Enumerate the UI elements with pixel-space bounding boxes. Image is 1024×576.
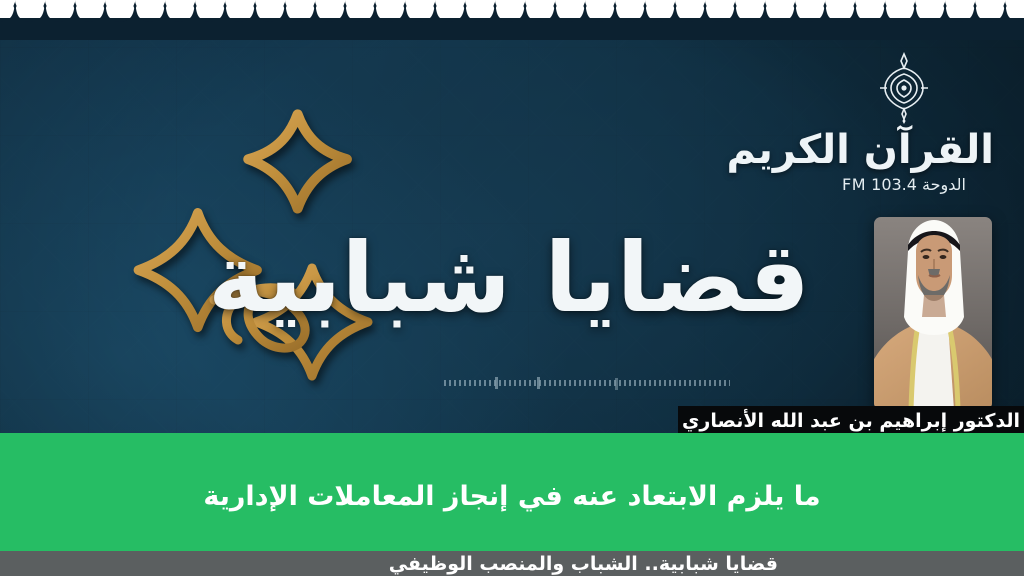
broadcast-frame: قضايا شبابية القرآن الكريم الدوحة 103.4 … <box>0 0 1024 576</box>
dotted-divider-ornament-icon <box>444 380 730 386</box>
islamic-finial-ornament-icon <box>874 52 934 124</box>
islamic-arch-crenellation-border-icon <box>0 0 1024 40</box>
topic-band: ما يلزم الابتعاد عنه في إنجاز المعاملات … <box>0 433 1024 551</box>
station-logo-word: القرآن الكريم <box>814 130 994 170</box>
program-title: قضايا شبابية <box>250 228 810 329</box>
guest-name-plate: الدكتور إبراهيم بن عبد الله الأنصاري <box>678 406 1024 435</box>
station-logo-frequency: الدوحة 103.4 FM <box>814 175 994 194</box>
program-title-text: قضايا شبابية <box>250 228 810 329</box>
station-logo: القرآن الكريم الدوحة 103.4 FM <box>814 52 994 194</box>
guest-portrait-photo-icon <box>874 217 992 410</box>
news-ticker-bar: قضايا شبابية.. الشباب والمنصب الوظيفي <box>0 551 1024 576</box>
topic-headline: ما يلزم الابتعاد عنه في إنجاز المعاملات … <box>0 481 1024 512</box>
guest-name-text: الدكتور إبراهيم بن عبد الله الأنصاري <box>682 410 1020 432</box>
top-border-strip <box>0 0 1024 40</box>
news-ticker-text: قضايا شبابية.. الشباب والمنصب الوظيفي <box>389 553 778 575</box>
